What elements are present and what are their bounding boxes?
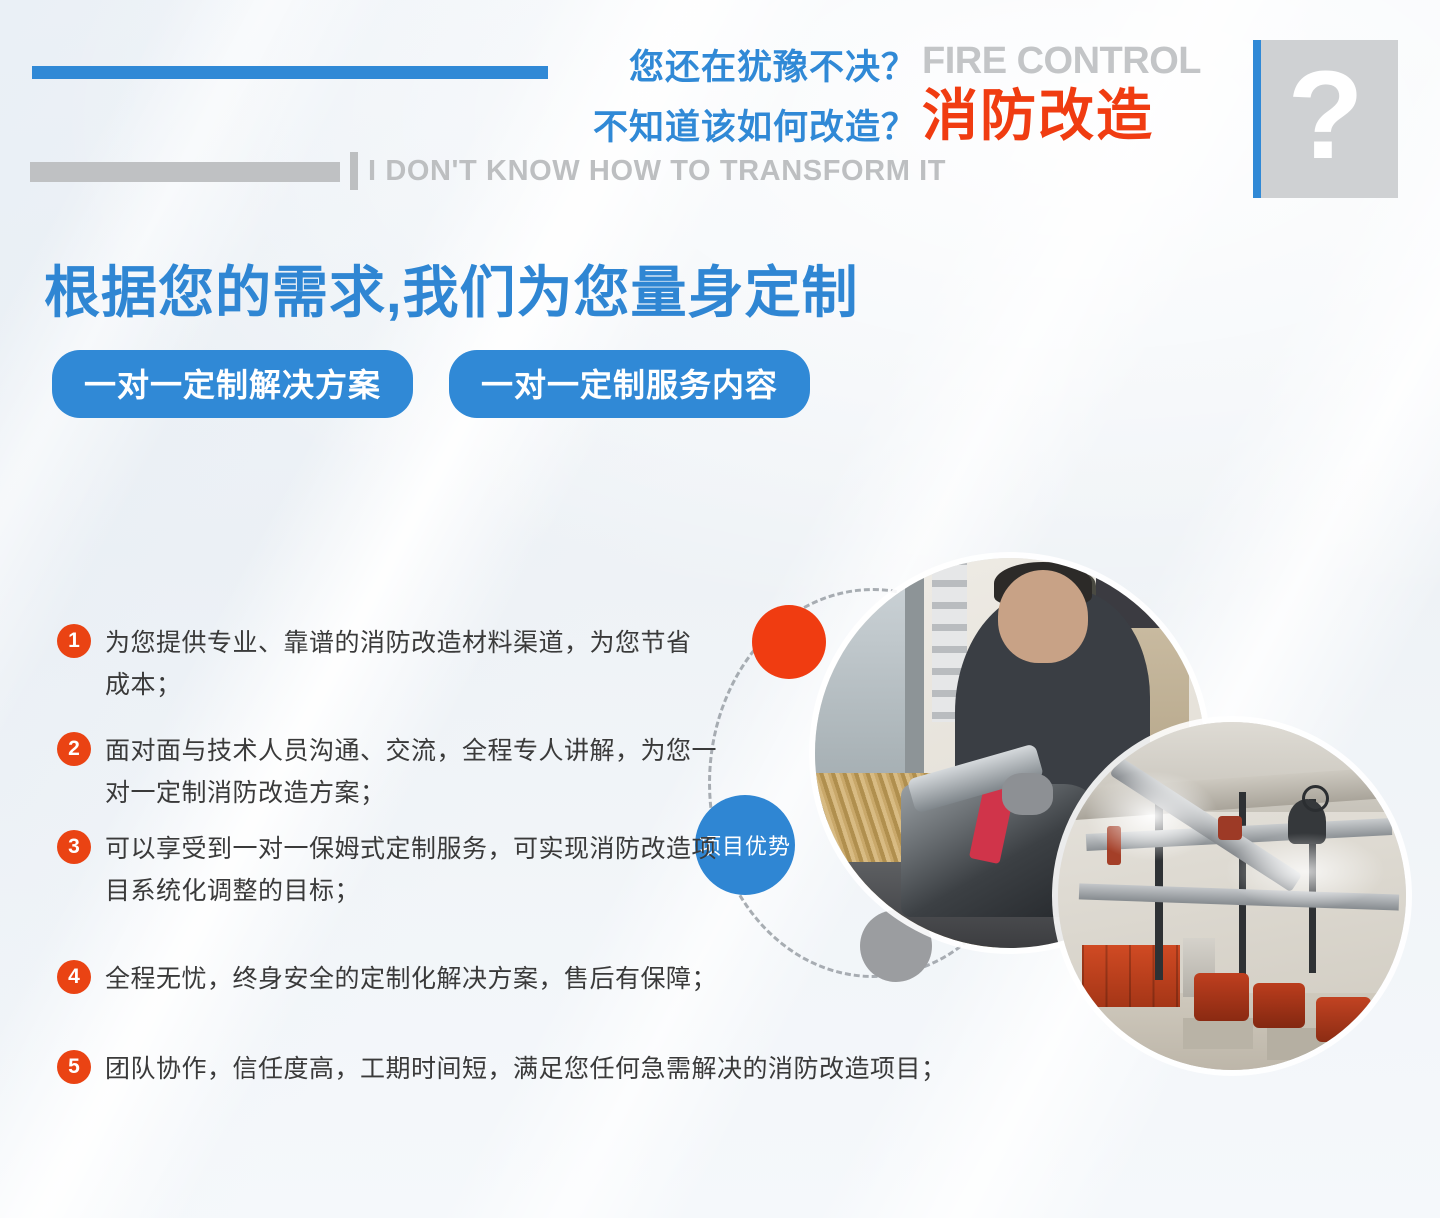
list-item: 1 为您提供专业、靠谱的消防改造材料渠道，为您节省成本； (57, 622, 705, 706)
list-item: 2 面对面与技术人员沟通、交流，全程专人讲解，为您一对一定制消防改造方案； (57, 730, 725, 814)
list-item-number: 3 (57, 830, 91, 864)
feature-pill-solution[interactable]: 一对一定制解决方案 (52, 350, 413, 418)
list-item-number: 5 (57, 1050, 91, 1084)
header-question-line-2: 不知道该如何改造？ (593, 110, 917, 145)
brand-block: FIRE CONTROL 消防改造 (922, 42, 1232, 146)
header-banner: 您还在犹豫不决？ 不知道该如何改造？ I DON'T KNOW HOW TO T… (0, 0, 1440, 215)
gray-tick-decoration (350, 152, 358, 190)
gray-rule-decoration (30, 162, 340, 182)
brand-english-label: FIRE CONTROL (922, 42, 1232, 80)
fire-pump-room-photo (1058, 722, 1406, 1070)
visual-cluster: 项目优势 (640, 540, 1440, 1100)
list-item: 5 团队协作，信任度高，工期时间短，满足您任何急需解决的消防改造项目； (57, 1048, 1105, 1090)
list-item-text: 可以享受到一对一保姆式定制服务，可实现消防改造项目系统化调整的目标； (105, 828, 725, 912)
list-item-text: 团队协作，信任度高，工期时间短，满足您任何急需解决的消防改造项目； (105, 1048, 1105, 1090)
question-box-accent-bar (1253, 40, 1261, 198)
list-item-text: 全程无忧，终身安全的定制化解决方案，售后有保障； (105, 958, 1105, 1000)
list-item-text: 为您提供专业、靠谱的消防改造材料渠道，为您节省成本； (105, 622, 705, 706)
list-item-number: 2 (57, 732, 91, 766)
header-english-subtitle: I DON'T KNOW HOW TO TRANSFORM IT (368, 155, 946, 188)
list-item-number: 4 (57, 960, 91, 994)
brand-chinese-title: 消防改造 (922, 87, 1232, 146)
pump-room-photo-artwork (1058, 722, 1406, 1070)
page-title: 根据您的需求,我们为您量身定制 (44, 248, 859, 329)
header-question-line-1: 您还在犹豫不决？ (629, 50, 917, 85)
feature-pill-service[interactable]: 一对一定制服务内容 (449, 350, 810, 418)
list-item-text: 面对面与技术人员沟通、交流，全程专人讲解，为您一对一定制消防改造方案； (105, 730, 725, 814)
list-item-number: 1 (57, 624, 91, 658)
list-item: 4 全程无忧，终身安全的定制化解决方案，售后有保障； (57, 958, 1105, 1000)
question-mark-icon: ? (1253, 40, 1398, 198)
blue-rule-decoration (32, 66, 548, 79)
feature-pill-group: 一对一定制解决方案 一对一定制服务内容 (52, 350, 810, 418)
list-item: 3 可以享受到一对一保姆式定制服务，可实现消防改造项目系统化调整的目标； (57, 828, 725, 912)
question-mark-box: ? (1253, 40, 1398, 198)
